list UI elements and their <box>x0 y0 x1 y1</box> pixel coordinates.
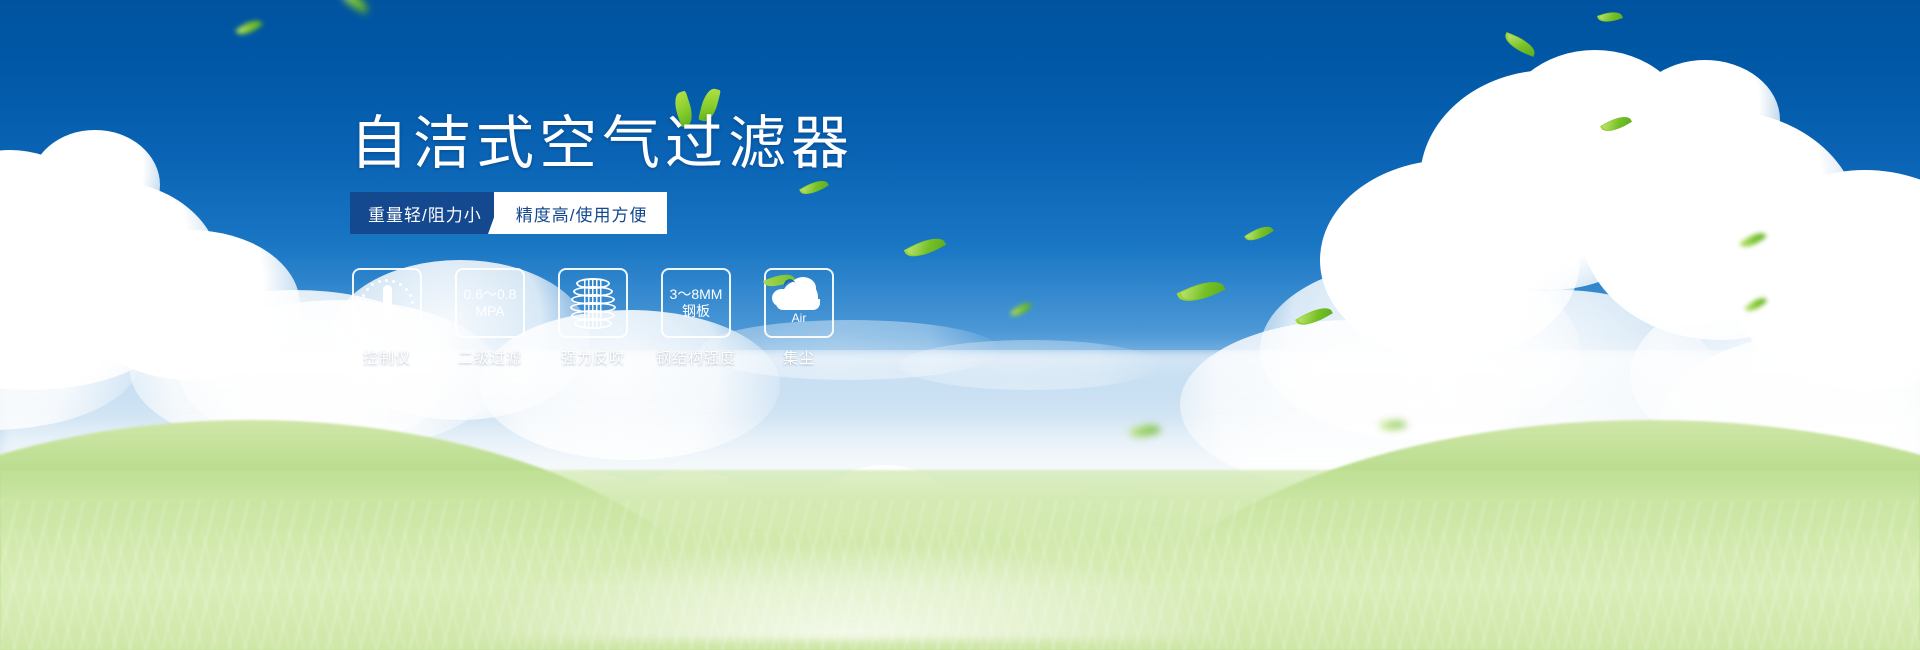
pressure-line-1: 0.6～0.8 <box>464 286 517 303</box>
badge-primary-label: 重量轻/阻力小 <box>368 201 482 226</box>
pressure-text-icon: 0.6～0.8 MPA <box>464 286 517 320</box>
dial-label-off: OFF <box>404 314 418 320</box>
feature-icon-box: 0.6～0.8 MPA <box>455 268 525 338</box>
pressure-line-2: MPA <box>464 303 517 320</box>
tagline-badges: 重量轻/阻力小 精度高/使用方便 <box>350 192 667 234</box>
banner-content: 自洁式空气过滤器 重量轻/阻力小 精度高/使用方便 <box>0 0 1920 650</box>
steel-plate-text-icon: 3～8MM 钢板 <box>670 286 723 320</box>
feature-item: Air 集尘 <box>764 268 834 368</box>
coil-spring-icon <box>568 277 618 329</box>
feature-icon-box <box>558 268 628 338</box>
feature-list: NO OFF 控制仪 0.6～0.8 MPA 二级过滤 <box>352 268 834 368</box>
feature-item: 强力反吹 <box>558 268 628 368</box>
feature-item: 3～8MM 钢板 钢结构强度 <box>661 268 731 368</box>
feature-icon-box: 3～8MM 钢板 <box>661 268 731 338</box>
steel-line-2: 钢板 <box>670 303 723 320</box>
feature-icon-box: Air <box>764 268 834 338</box>
product-banner: 自洁式空气过滤器 重量轻/阻力小 精度高/使用方便 <box>0 0 1920 650</box>
feature-label: 强力反吹 <box>561 347 625 368</box>
cloud-air-icon: Air <box>770 277 828 329</box>
dial-label-no: NO <box>357 298 367 304</box>
badge-secondary: 精度高/使用方便 <box>494 192 668 234</box>
feature-label: 控制仪 <box>363 347 411 368</box>
feature-label: 二级过滤 <box>458 347 522 368</box>
air-label: Air <box>770 311 828 325</box>
feature-icon-box: NO OFF <box>352 268 422 338</box>
feature-label: 钢结构强度 <box>656 347 736 368</box>
page-title: 自洁式空气过滤器 <box>350 115 854 173</box>
control-dial-icon: NO OFF <box>358 276 416 330</box>
feature-item: NO OFF 控制仪 <box>352 268 422 368</box>
steel-line-1: 3～8MM <box>670 286 723 303</box>
feature-item: 0.6～0.8 MPA 二级过滤 <box>455 268 525 368</box>
feature-label: 集尘 <box>783 347 815 368</box>
badge-secondary-label: 精度高/使用方便 <box>516 201 648 226</box>
